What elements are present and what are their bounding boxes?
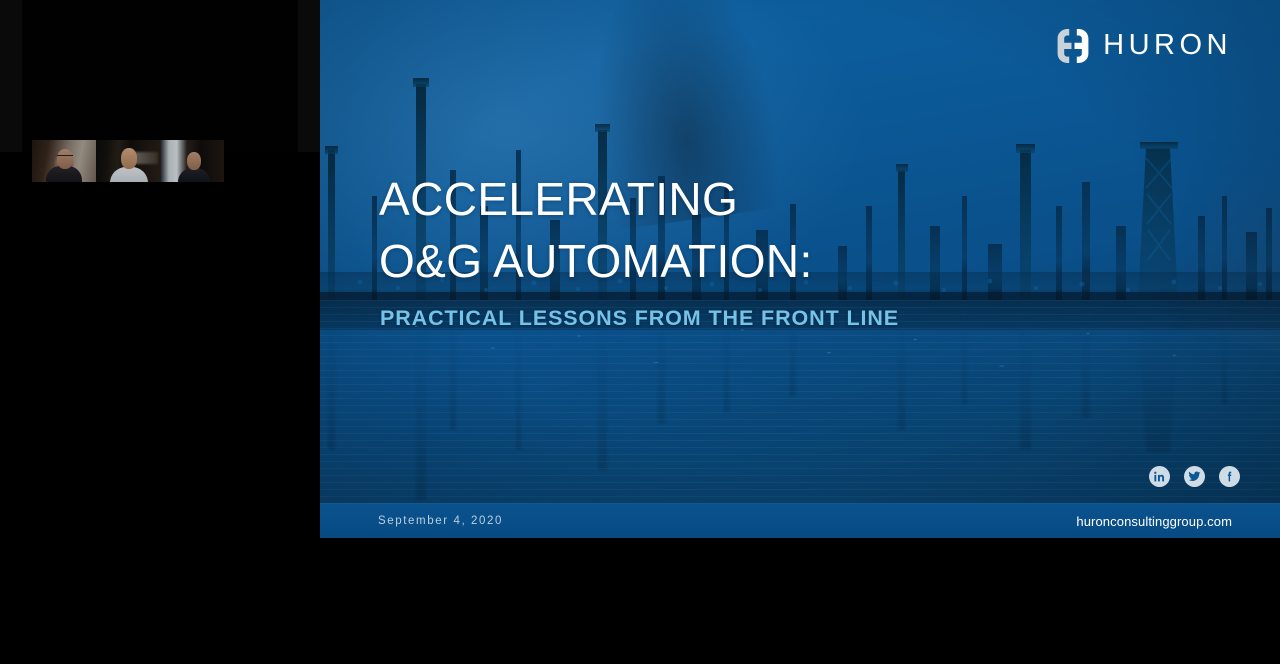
huron-logo: HURON xyxy=(1056,28,1232,64)
shared-slide[interactable]: HURON ACCELERATING O&G AUTOMATION: PRACT… xyxy=(320,0,1280,538)
huron-logo-wordmark: HURON xyxy=(1103,31,1232,62)
screen-capture: HURON ACCELERATING O&G AUTOMATION: PRACT… xyxy=(0,0,1280,664)
empty-left-region xyxy=(0,182,320,538)
linkedin-icon[interactable] xyxy=(1149,466,1170,487)
participant-video-panel[interactable] xyxy=(0,0,320,182)
video-letterbox-right xyxy=(298,0,320,152)
slide-footer-bar: September 4, 2020 huronconsultinggroup.c… xyxy=(320,503,1280,538)
participant-2-shade xyxy=(96,140,160,182)
slide-title: ACCELERATING O&G AUTOMATION: xyxy=(379,168,1019,292)
facebook-icon[interactable] xyxy=(1219,466,1240,487)
participant-thumbnail-strip[interactable] xyxy=(32,140,224,182)
social-links[interactable] xyxy=(1149,466,1240,487)
video-letterbox-left xyxy=(0,0,22,152)
empty-bottom-region xyxy=(0,538,1280,664)
title-line-1: ACCELERATING xyxy=(379,168,1019,230)
company-website: huronconsultinggroup.com xyxy=(1076,514,1232,529)
participant-1-shade xyxy=(32,140,96,182)
title-line-2: O&G AUTOMATION: xyxy=(379,230,1019,292)
huron-logo-mark xyxy=(1056,28,1090,64)
participant-tile-1[interactable] xyxy=(32,140,96,182)
twitter-icon[interactable] xyxy=(1184,466,1205,487)
participant-3-shade xyxy=(160,140,224,182)
slide-subtitle: PRACTICAL LESSONS FROM THE FRONT LINE xyxy=(380,306,899,331)
presentation-date: September 4, 2020 xyxy=(378,515,503,527)
participant-tile-3[interactable] xyxy=(160,140,224,182)
participant-tile-2[interactable] xyxy=(96,140,160,182)
video-main-area[interactable] xyxy=(22,0,298,152)
